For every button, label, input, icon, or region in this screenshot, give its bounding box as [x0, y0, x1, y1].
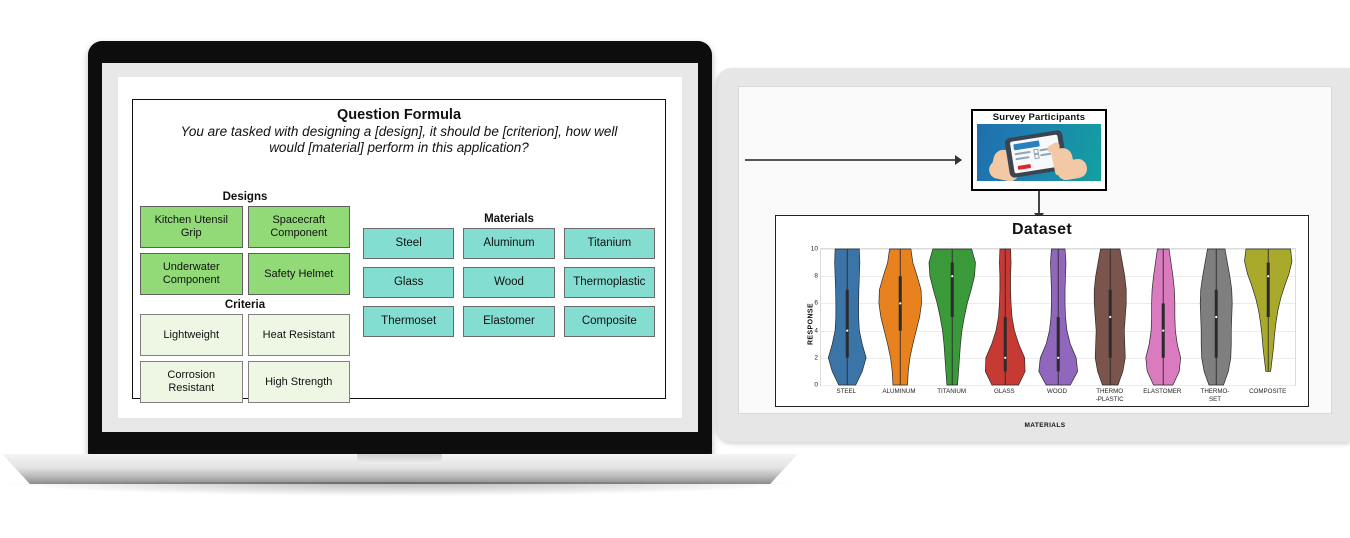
dataset-panel: Dataset RESPONSE 0246810 STEELALUMINUMTI… — [775, 215, 1309, 407]
criteria-heading: Criteria — [140, 299, 350, 311]
violin-wood — [1034, 249, 1082, 385]
laptop-base-notch — [357, 454, 442, 464]
material-box-1[interactable]: Steel — [363, 228, 454, 259]
designs-grid: Kitchen Utensil GripSpacecraft Component… — [140, 206, 350, 295]
design-box-4[interactable]: Safety Helmet — [248, 253, 351, 295]
laptop-screen: Question Formula You are tasked with des… — [118, 77, 682, 418]
material-box-3[interactable]: Titanium — [564, 228, 655, 259]
dataset-title: Dataset — [776, 221, 1308, 239]
designs-heading: Designs — [140, 191, 350, 203]
material-box-4[interactable]: Glass — [363, 267, 454, 298]
form-line-icon — [1015, 157, 1029, 161]
submit-button-icon — [1018, 164, 1031, 170]
criteria-box-4[interactable]: High Strength — [248, 361, 351, 403]
arrow-to-survey-icon — [745, 159, 961, 161]
material-box-7[interactable]: Thermoset — [363, 306, 454, 337]
criteria-box-3[interactable]: Corrosion Resistant — [140, 361, 243, 403]
designs-criteria-column: Designs Kitchen Utensil GripSpacecraft C… — [140, 190, 350, 403]
material-box-8[interactable]: Elastomer — [463, 306, 554, 337]
survey-participants-box: Survey Participants — [971, 109, 1107, 191]
criteria-box-1[interactable]: Lightweight — [140, 314, 243, 356]
criteria-grid: LightweightHeat ResistantCorrosion Resis… — [140, 314, 350, 403]
x-axis-label: MATERIALS — [790, 422, 1300, 429]
material-box-6[interactable]: Thermoplastic — [564, 267, 655, 298]
criteria-box-2[interactable]: Heat Resistant — [248, 314, 351, 356]
right-monitor: Survey Participants — [716, 68, 1350, 442]
violin-thermo-set — [1192, 249, 1240, 385]
laptop-bezel: Question Formula You are tasked with des… — [102, 63, 698, 432]
violin-composite — [1244, 249, 1292, 385]
checkbox-icon — [1034, 154, 1040, 160]
y-tick-label: 8 — [814, 273, 818, 280]
materials-grid: SteelAluminumTitaniumGlassWoodThermoplas… — [363, 228, 655, 337]
material-box-9[interactable]: Composite — [564, 306, 655, 337]
form-line-icon — [1040, 153, 1051, 157]
y-tick-label: 2 — [814, 354, 818, 361]
slide-content: Question Formula You are tasked with des… — [132, 99, 666, 399]
material-box-2[interactable]: Aluminum — [463, 228, 554, 259]
violin-steel — [823, 249, 871, 385]
laptop-lid: Question Formula You are tasked with des… — [88, 41, 712, 457]
laptop-shadow — [8, 482, 792, 496]
violin-glass — [981, 249, 1029, 385]
right-forearm-icon — [1056, 158, 1089, 181]
design-box-1[interactable]: Kitchen Utensil Grip — [140, 206, 243, 248]
violin-titanium — [928, 249, 976, 385]
materials-heading: Materials — [363, 213, 655, 225]
monitor-screen: Survey Participants — [738, 86, 1332, 414]
material-box-5[interactable]: Wood — [463, 267, 554, 298]
x-tick-label: COMPOSITE — [1233, 388, 1301, 396]
y-tick-label: 4 — [814, 327, 818, 334]
plot-area: 0246810 — [820, 248, 1296, 386]
tablet-survey-illustration — [977, 124, 1101, 181]
design-box-2[interactable]: Spacecraft Component — [248, 206, 351, 248]
violin-thermo-plastic — [1086, 249, 1134, 385]
y-tick-label: 6 — [814, 300, 818, 307]
form-line-icon — [1015, 151, 1031, 155]
question-formula-title: Question Formula — [133, 107, 665, 123]
violin-aluminum — [876, 249, 924, 385]
x-axis-tick-labels: STEELALUMINUMTITANIUMGLASSWOODTHERMO -PL… — [820, 388, 1296, 418]
design-box-3[interactable]: Underwater Component — [140, 253, 243, 295]
y-tick-label: 10 — [811, 246, 818, 253]
laptop: Question Formula You are tasked with des… — [88, 41, 712, 457]
materials-column: Materials SteelAluminumTitaniumGlassWood… — [363, 212, 655, 337]
arrow-to-dataset-icon — [1038, 191, 1040, 213]
question-formula-text: You are tasked with designing a [design]… — [133, 124, 665, 157]
violin-chart: RESPONSE 0246810 STEELALUMINUMTITANIUMGL… — [790, 246, 1300, 402]
violin-elastomer — [1139, 249, 1187, 385]
survey-participants-title: Survey Participants — [973, 111, 1105, 124]
y-axis-label: RESPONSE — [808, 303, 815, 345]
